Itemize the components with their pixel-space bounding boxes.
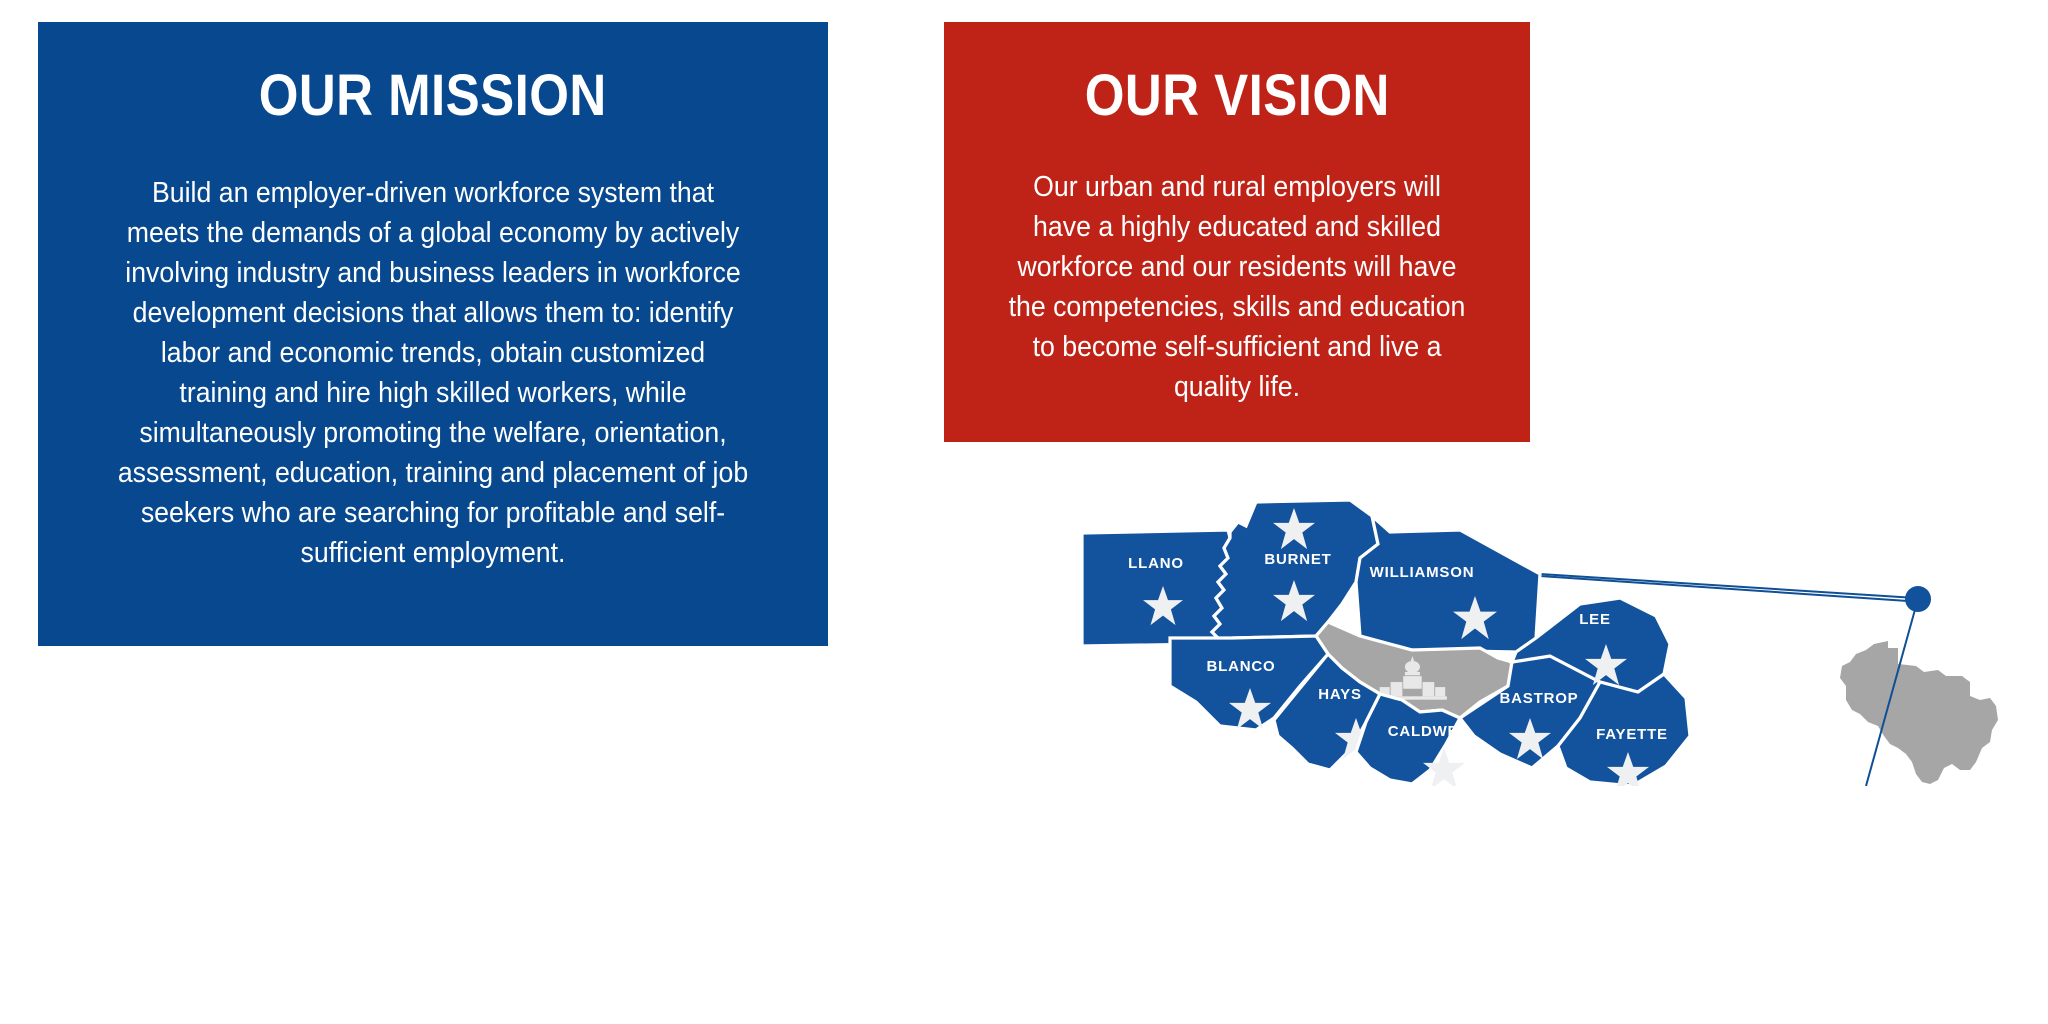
county-label-burnet: BURNET [1264,551,1331,568]
service-area-county-map: LLANO BURNET WILLIAMSON [1060,486,2048,786]
county-label-hays: HAYS [1318,686,1362,703]
county-label-bastrop: BASTROP [1500,690,1579,707]
county-label-llano: LLANO [1128,555,1184,572]
mission-body-text: Build an employer-driven workforce syste… [114,173,752,573]
county-burnet[interactable]: BURNET [1210,500,1378,644]
vision-body-text: Our urban and rural employers will have … [1001,167,1474,407]
vision-card: OUR VISION Our urban and rural employers… [944,22,1530,442]
mission-title: OUR MISSION [259,66,607,127]
austin-locator-dot [1905,586,1931,612]
vision-title: OUR VISION [1084,66,1389,127]
county-label-lee: LEE [1579,611,1611,628]
county-label-blanco: BLANCO [1207,658,1276,675]
county-williamson[interactable]: WILLIAMSON [1356,516,1540,652]
mission-card: OUR MISSION Build an employer-driven wor… [38,22,828,646]
county-label-fayette: FAYETTE [1596,726,1668,743]
texas-state-outline-icon [1840,641,1998,784]
county-label-williamson: WILLIAMSON [1370,564,1475,581]
county-llano[interactable]: LLANO [1082,530,1230,646]
